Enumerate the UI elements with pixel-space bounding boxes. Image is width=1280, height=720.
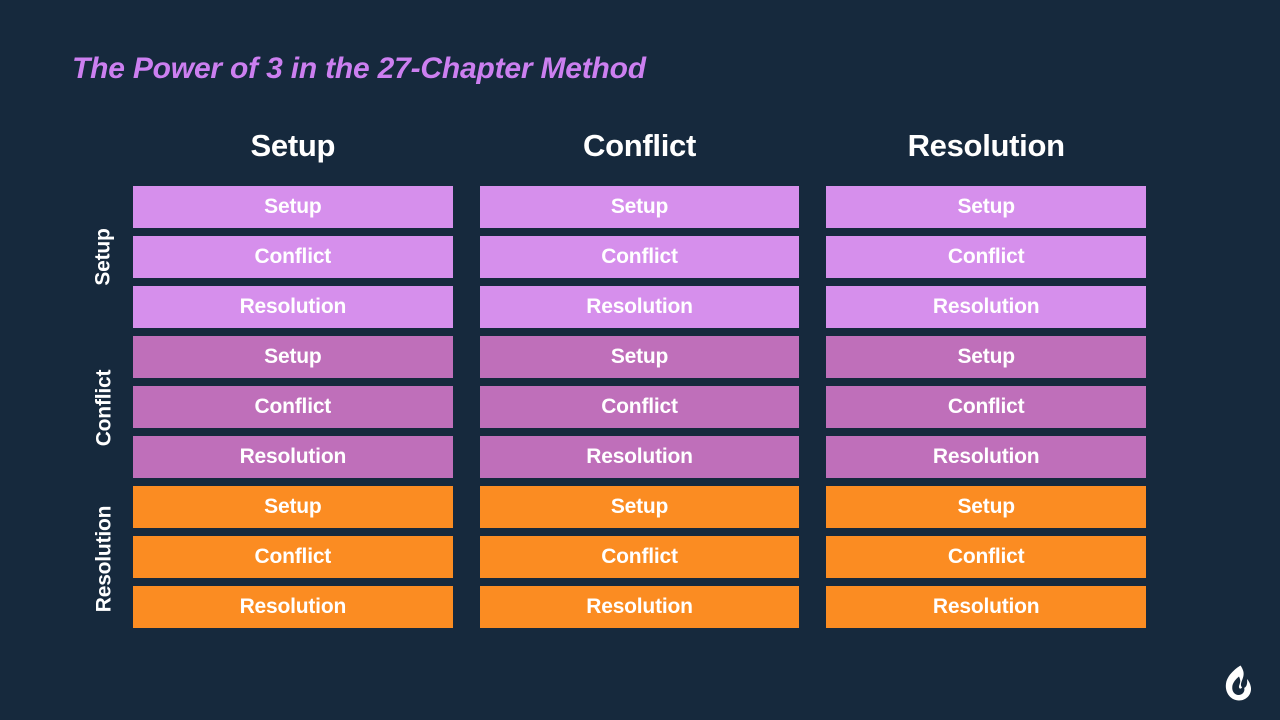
flame-icon — [1220, 664, 1254, 702]
column-header-row: Setup Conflict Resolution — [133, 128, 1146, 164]
cell-conflict-resolution[interactable]: Resolution — [480, 436, 800, 478]
cell-setup-resolution[interactable]: Resolution — [480, 286, 800, 328]
cell-resolution-conflict[interactable]: Conflict — [480, 536, 800, 578]
cell-resolution-setup[interactable]: Setup — [133, 486, 453, 528]
band-resolution: Setup Conflict Resolution — [480, 486, 800, 628]
cell-conflict-resolution[interactable]: Resolution — [133, 436, 453, 478]
slide-canvas: The Power of 3 in the 27-Chapter Method … — [0, 0, 1280, 720]
row-label-setup: Setup — [82, 186, 126, 328]
band-conflict: Setup Conflict Resolution — [480, 336, 800, 478]
cell-setup-conflict[interactable]: Conflict — [133, 236, 453, 278]
row-label-conflict-text: Conflict — [92, 370, 116, 447]
cell-resolution-resolution[interactable]: Resolution — [826, 586, 1146, 628]
band-setup: Setup Conflict Resolution — [133, 186, 453, 328]
grid-column-resolution: Setup Conflict Resolution Setup Conflict… — [826, 186, 1146, 630]
cell-resolution-resolution[interactable]: Resolution — [133, 586, 453, 628]
cell-setup-setup[interactable]: Setup — [826, 186, 1146, 228]
band-conflict: Setup Conflict Resolution — [133, 336, 453, 478]
band-resolution: Setup Conflict Resolution — [826, 486, 1146, 628]
cell-resolution-resolution[interactable]: Resolution — [480, 586, 800, 628]
row-label-resolution-text: Resolution — [92, 506, 116, 613]
cell-resolution-conflict[interactable]: Conflict — [133, 536, 453, 578]
grid-column-setup: Setup Conflict Resolution Setup Conflict… — [133, 186, 453, 630]
cell-setup-resolution[interactable]: Resolution — [133, 286, 453, 328]
band-setup: Setup Conflict Resolution — [480, 186, 800, 328]
cell-setup-setup[interactable]: Setup — [480, 186, 800, 228]
matrix-grid: Setup Conflict Resolution Setup Conflict… — [133, 186, 1146, 630]
cell-setup-setup[interactable]: Setup — [133, 186, 453, 228]
row-label-conflict: Conflict — [82, 337, 126, 479]
cell-resolution-setup[interactable]: Setup — [826, 486, 1146, 528]
cell-resolution-setup[interactable]: Setup — [480, 486, 800, 528]
row-label-resolution: Resolution — [82, 488, 126, 630]
cell-conflict-conflict[interactable]: Conflict — [826, 386, 1146, 428]
cell-setup-resolution[interactable]: Resolution — [826, 286, 1146, 328]
cell-conflict-conflict[interactable]: Conflict — [133, 386, 453, 428]
cell-resolution-conflict[interactable]: Conflict — [826, 536, 1146, 578]
band-resolution: Setup Conflict Resolution — [133, 486, 453, 628]
band-conflict: Setup Conflict Resolution — [826, 336, 1146, 478]
cell-setup-conflict[interactable]: Conflict — [826, 236, 1146, 278]
column-header-conflict: Conflict — [480, 128, 800, 164]
row-label-column: Setup Conflict Resolution — [82, 186, 126, 630]
grid-column-conflict: Setup Conflict Resolution Setup Conflict… — [480, 186, 800, 630]
column-header-resolution: Resolution — [826, 128, 1146, 164]
cell-setup-conflict[interactable]: Conflict — [480, 236, 800, 278]
cell-conflict-resolution[interactable]: Resolution — [826, 436, 1146, 478]
column-header-setup: Setup — [133, 128, 453, 164]
cell-conflict-setup[interactable]: Setup — [133, 336, 453, 378]
band-setup: Setup Conflict Resolution — [826, 186, 1146, 328]
page-title: The Power of 3 in the 27-Chapter Method — [72, 52, 646, 86]
cell-conflict-setup[interactable]: Setup — [826, 336, 1146, 378]
row-label-setup-text: Setup — [92, 228, 116, 285]
cell-conflict-conflict[interactable]: Conflict — [480, 386, 800, 428]
cell-conflict-setup[interactable]: Setup — [480, 336, 800, 378]
